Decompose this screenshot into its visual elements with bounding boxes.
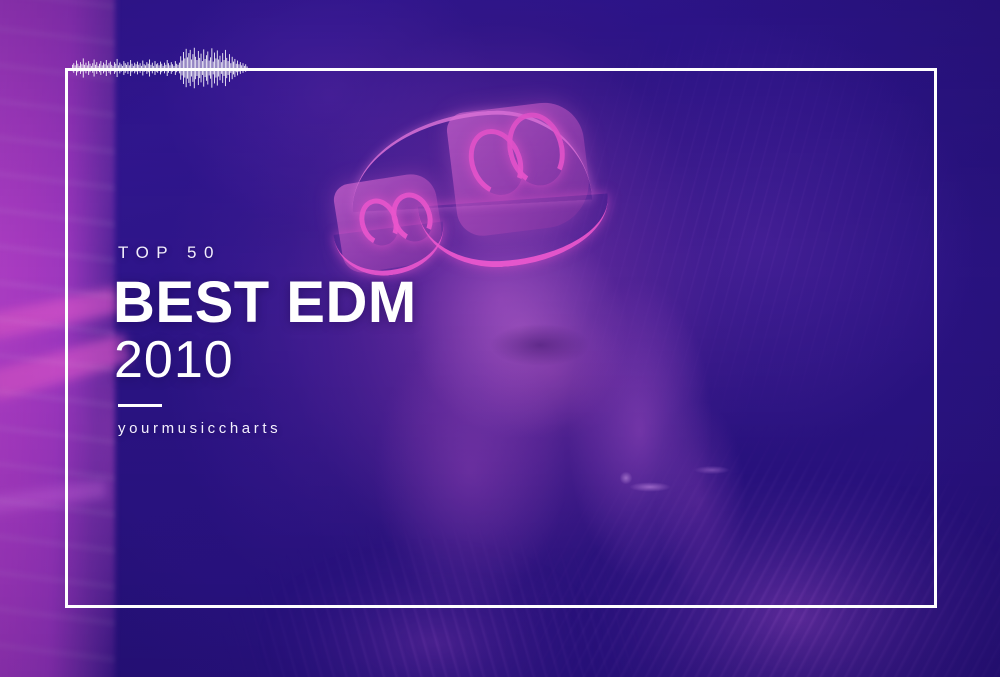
audio-waveform-icon (72, 46, 248, 90)
year-label: 2010 (114, 333, 636, 388)
page-title: BEST EDM (113, 275, 636, 331)
poster-text-block: TOP 50 BEST EDM 2010 yourmusiccharts (116, 244, 636, 436)
brand-label: yourmusiccharts (118, 421, 636, 436)
poster-canvas: TOP 50 BEST EDM 2010 yourmusiccharts (0, 0, 1000, 677)
magenta-strip-ridges (0, 0, 115, 677)
eyebrow-label: TOP 50 (118, 244, 636, 261)
divider-rule (118, 404, 162, 407)
